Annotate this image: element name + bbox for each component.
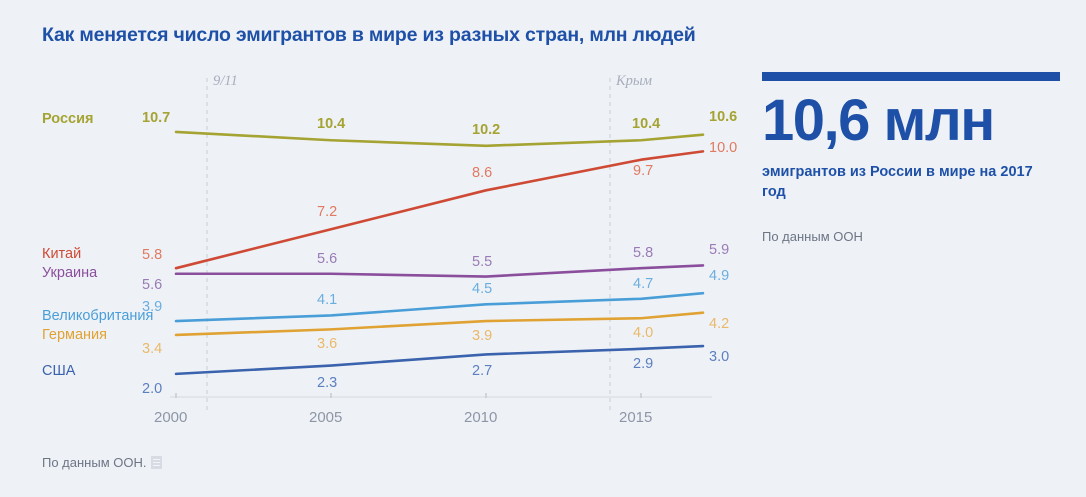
data-point-value-label: 9.7 [633, 164, 653, 179]
data-point-value-label: 3.6 [317, 337, 337, 352]
x-axis [170, 393, 712, 398]
data-point-value-label: 5.8 [142, 248, 162, 263]
document-icon [151, 456, 162, 469]
series-line [176, 293, 703, 321]
series-name-label: Китай [42, 247, 81, 262]
x-tick-label: 2010 [464, 410, 497, 425]
event-annotation-label: 9/11 [213, 74, 238, 89]
data-point-value-label: 4.7 [633, 277, 653, 292]
data-point-value-label: 2.0 [142, 382, 162, 397]
series-name-label: Германия [42, 328, 107, 343]
highlight-panel: 10,6 млн эмигрантов из России в мире на … [762, 72, 1062, 243]
data-point-value-label: 10.0 [709, 141, 737, 156]
series-line [176, 346, 703, 374]
data-point-value-label: 3.0 [709, 350, 729, 365]
series-name-label: Украина [42, 266, 97, 281]
data-point-value-label: 5.6 [317, 252, 337, 267]
data-point-value-label: 4.5 [472, 282, 492, 297]
panel-top-rule [762, 72, 1060, 81]
chart-series-lines [176, 132, 703, 374]
footer-source-text: По данным ООН. [42, 455, 146, 470]
series-line [176, 265, 703, 276]
data-point-value-label: 10.2 [472, 123, 500, 138]
data-point-value-label: 4.0 [633, 326, 653, 341]
data-point-value-label: 10.7 [142, 111, 170, 126]
line-chart: РоссияКитайУкраинаВеликобританияГермания… [0, 60, 740, 430]
data-point-value-label: 10.4 [317, 117, 345, 132]
data-point-value-label: 7.2 [317, 205, 337, 220]
data-point-value-label: 3.9 [472, 329, 492, 344]
chart-canvas [0, 60, 740, 430]
data-point-value-label: 10.6 [709, 110, 737, 125]
panel-big-number: 10,6 млн [762, 92, 1062, 150]
panel-source-note: По данным ООН [762, 230, 1062, 243]
data-point-value-label: 5.8 [633, 246, 653, 261]
data-point-value-label: 3.9 [142, 300, 162, 315]
data-point-value-label: 5.6 [142, 278, 162, 293]
data-point-value-label: 5.9 [709, 243, 729, 258]
series-name-label: Россия [42, 112, 93, 127]
x-tick-label: 2000 [154, 410, 187, 425]
data-point-value-label: 3.4 [142, 342, 162, 357]
series-name-label: Великобритания [42, 309, 153, 324]
page-title: Как меняется число эмигрантов в мире из … [42, 24, 696, 47]
data-point-value-label: 10.4 [632, 117, 660, 132]
series-line [176, 132, 703, 146]
series-name-label: США [42, 364, 75, 379]
x-tick-label: 2015 [619, 410, 652, 425]
series-line [176, 313, 703, 335]
data-point-value-label: 4.1 [317, 293, 337, 308]
data-point-value-label: 4.2 [709, 317, 729, 332]
panel-description: эмигрантов из России в мире на 2017 год [762, 163, 1052, 202]
data-point-value-label: 2.9 [633, 357, 653, 372]
data-point-value-label: 5.5 [472, 255, 492, 270]
data-point-value-label: 2.3 [317, 376, 337, 391]
infographic-root: Как меняется число эмигрантов в мире из … [0, 0, 1086, 497]
data-point-value-label: 8.6 [472, 166, 492, 181]
x-tick-label: 2005 [309, 410, 342, 425]
event-annotation-label: Крым [616, 74, 652, 89]
series-line [176, 151, 703, 268]
footer-source-note: По данным ООН. [42, 456, 162, 469]
data-point-value-label: 2.7 [472, 364, 492, 379]
data-point-value-label: 4.9 [709, 269, 729, 284]
